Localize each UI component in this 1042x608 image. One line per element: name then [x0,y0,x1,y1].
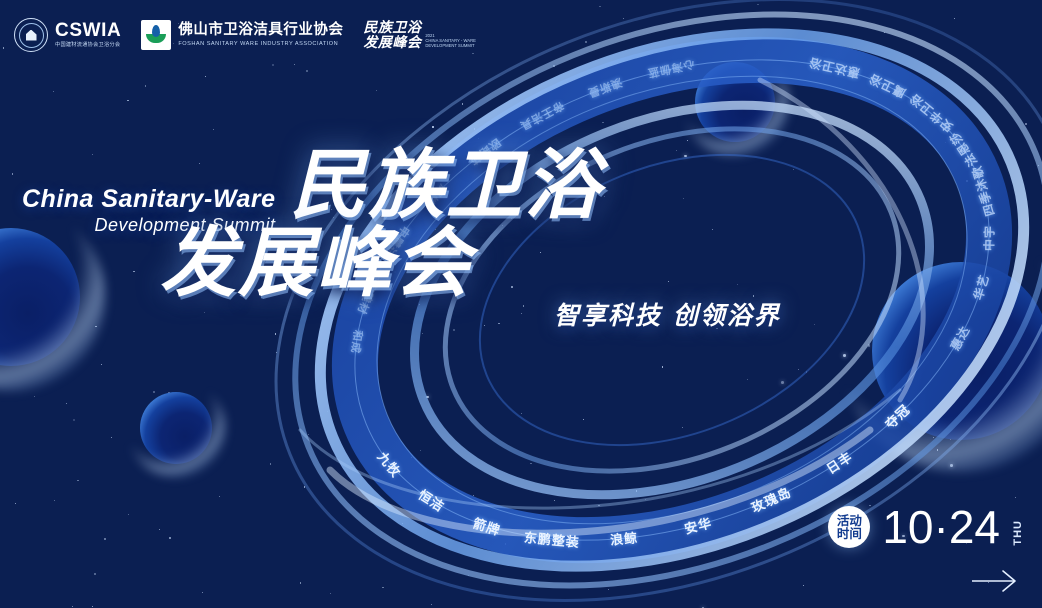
header-logos: CSWIA 中国建材流通协会卫浴分会 佛山市卫浴洁具行业协会 FOSHAN SA… [14,18,476,52]
logo-cswia: CSWIA 中国建材流通协会卫浴分会 [14,18,121,52]
event-date-block: 活动 时间 10·24 THU [828,504,1024,550]
ring-brand-label: 和成 [347,329,366,355]
cswia-abbr: CSWIA [55,21,121,40]
ring-brand-label: 浪鲸 [609,528,639,550]
arrow-right-icon[interactable] [970,568,1022,594]
foshan-name-cn: 佛山市卫浴洁具行业协会 [178,23,343,38]
page-title: 民族卫浴 发展峰会 [290,150,602,298]
event-date-value: 10·24 [882,504,1000,550]
poster-canvas: 九牧恒洁箭牌东鹏整装浪鲸安华玫瑰岛日丰夺冠惠达华艺中宇四季沐歌法恩莎安华卫浴鹰卫… [0,0,1042,608]
water-drop-wave-icon [141,20,171,50]
logo-summit: 民族卫浴 发展峰会 2021 CHINA SANITARY - WARE DEV… [363,20,476,49]
chinese-title-line2: 发展峰会 [160,228,602,298]
logo-foshan-association: 佛山市卫浴洁具行业协会 FOSHAN SANITARY WARE INDUSTR… [141,20,343,50]
chinese-title-line1: 民族卫浴 [290,150,602,220]
tagline: 智享科技 创领浴界 [554,296,781,332]
summit-logo-en-3: DEVELOPMENT SUMMIT [425,43,476,48]
summit-logo-line2: 发展峰会 [363,35,421,50]
event-weekday: THU [1012,520,1024,546]
summit-logo-line1: 民族卫浴 [363,20,421,35]
foshan-name-en: FOSHAN SANITARY WARE INDUSTRY ASSOCIATIO… [178,41,343,47]
english-title-line1: China Sanitary-Ware [22,186,276,212]
date-badge-line2: 时间 [837,527,862,540]
status-badge: 活动 时间 [828,506,870,548]
house-in-circle-icon [14,18,48,52]
ring-brand-label: 中宇 [980,225,997,251]
cswia-subtitle: 中国建材流通协会卫浴分会 [55,43,121,48]
